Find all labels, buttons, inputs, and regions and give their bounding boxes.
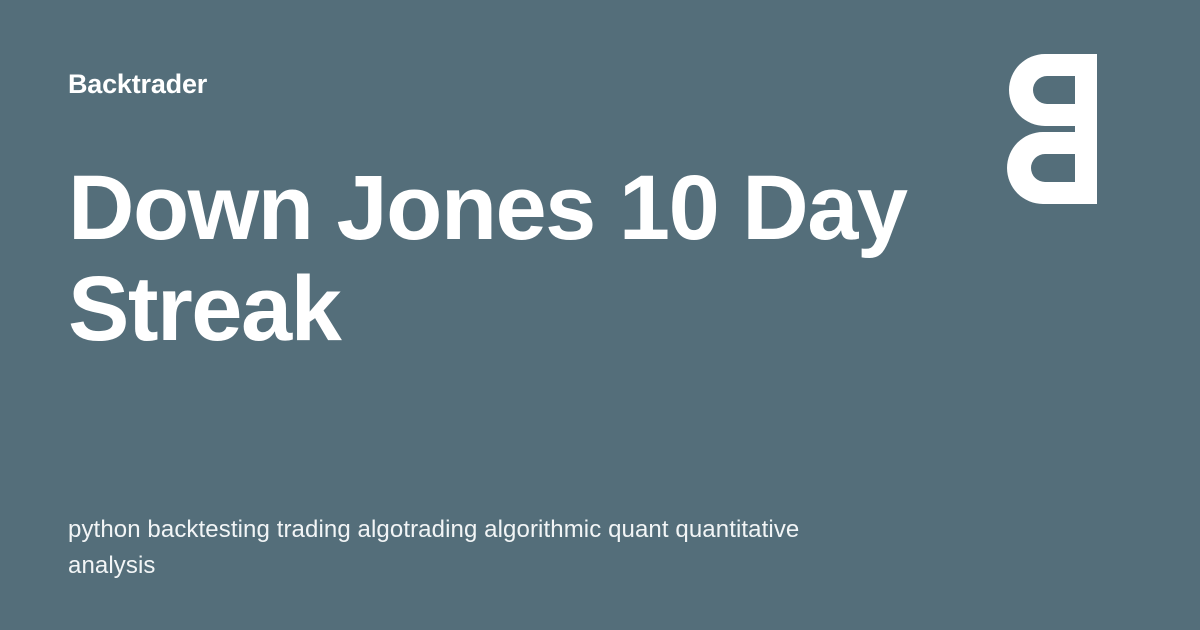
brand-name: Backtrader [68,70,207,100]
keyword-tagline: python backtesting trading algotrading a… [68,512,828,584]
page-title: Down Jones 10 Day Streak [68,158,948,360]
open-graph-card: Backtrader Down Jones 10 Day Streak pyth… [0,0,1200,630]
backtrader-mirrored-b-logo-icon [1005,54,1097,204]
